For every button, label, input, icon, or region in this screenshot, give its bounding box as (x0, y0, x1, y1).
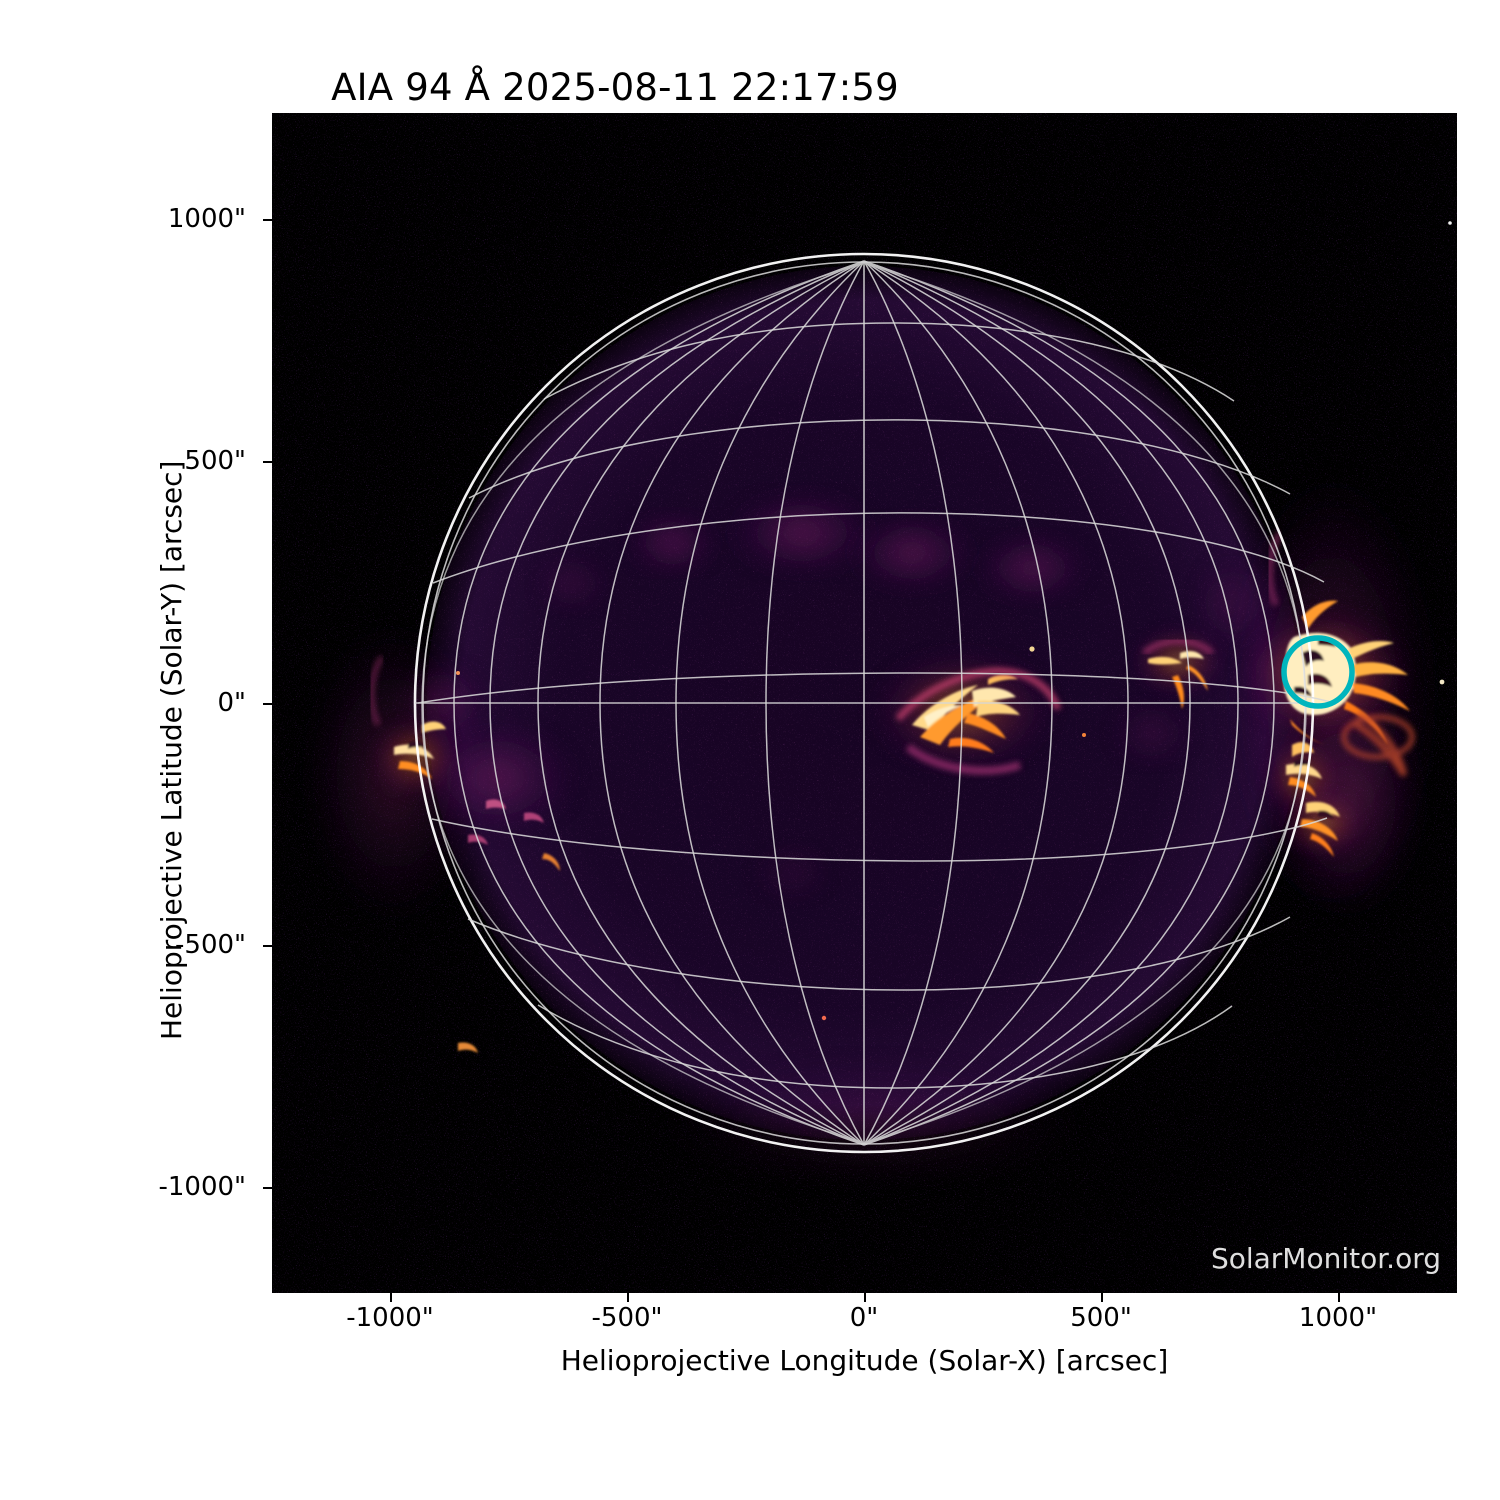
x-tick-mark (627, 1293, 629, 1302)
solar-disk-plot-area[interactable]: SolarMonitor.org (272, 113, 1457, 1293)
y-tick-mark (263, 219, 272, 221)
x-tick-label: 1000" (1299, 1303, 1377, 1333)
x-tick-label: -1000" (346, 1303, 434, 1333)
y-tick-label: -1000" (158, 1172, 246, 1202)
x-tick-mark (864, 1293, 866, 1302)
y-tick-label: 1000" (168, 204, 246, 234)
grid-lines (415, 323, 1334, 1088)
active-region-marker[interactable] (1284, 638, 1352, 706)
x-tick-mark (390, 1293, 392, 1302)
y-tick-mark (263, 461, 272, 463)
y-tick-label: 500" (184, 446, 246, 476)
y-tick-mark (263, 945, 272, 947)
y-axis-label: Helioprojective Latitude (Solar-Y) [arcs… (155, 461, 188, 1040)
x-tick-label: 0" (850, 1303, 879, 1333)
x-axis-label: Helioprojective Longitude (Solar-X) [arc… (272, 1344, 1457, 1377)
x-tick-mark (1338, 1293, 1340, 1302)
figure-title: AIA 94 Å 2025-08-11 22:17:59 (0, 66, 1365, 109)
y-tick-label: 0" (217, 688, 246, 718)
y-tick-mark (263, 703, 272, 705)
heliographic-grid-overlay (272, 113, 1457, 1293)
x-tick-label: 500" (1070, 1303, 1132, 1333)
solar-image-figure: AIA 94 Å 2025-08-11 22:17:59 (0, 0, 1500, 1500)
x-tick-mark (1101, 1293, 1103, 1302)
solarmonitor-watermark: SolarMonitor.org (1211, 1242, 1441, 1275)
y-tick-mark (263, 1187, 272, 1189)
x-tick-label: -500" (592, 1303, 663, 1333)
